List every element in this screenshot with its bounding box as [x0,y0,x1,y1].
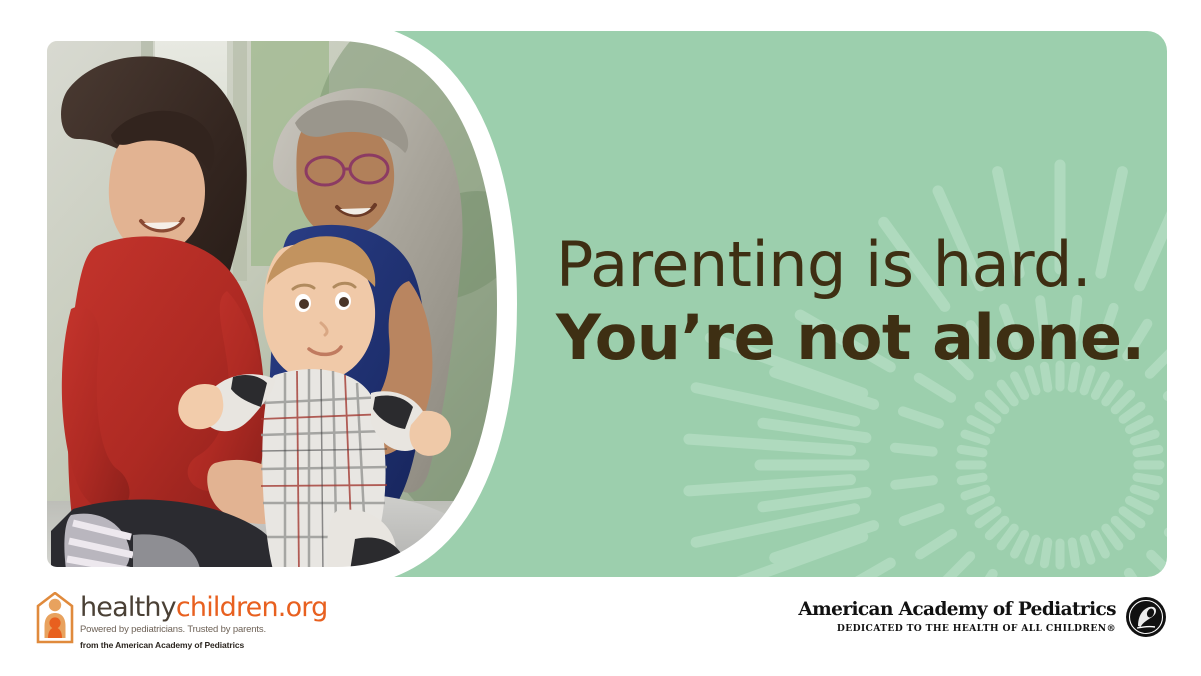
healthychildren-text: healthychildren.org Powered by pediatric… [80,592,327,650]
aap-text: American Academy of Pediatrics DEDICATED… [798,600,1116,634]
family-photo [37,31,517,577]
headline: Parenting is hard. You’re not alone. [556,234,1156,369]
healthychildren-wordmark: healthychildren.org [80,594,327,621]
healthychildren-tagline: Powered by pediatricians. Trusted by par… [80,624,327,635]
aap-tagline: DEDICATED TO THE HEALTH OF ALL CHILDREN® [798,623,1116,634]
wordmark-healthy: healthy [80,592,176,623]
healthychildren-subtagline: from the American Academy of Pediatrics [80,640,327,650]
healthychildren-logo[interactable]: healthychildren.org Powered by pediatric… [36,592,327,650]
headline-line-1: Parenting is hard. [556,234,1156,296]
promo-banner: Parenting is hard. You’re not alone. hea… [0,0,1201,676]
aap-logo[interactable]: American Academy of Pediatrics DEDICATED… [798,596,1167,638]
wordmark-children: children.org [176,592,328,623]
parent-and-child-icon [36,592,74,644]
headline-line-2: You’re not alone. [556,307,1156,369]
aap-seal-icon [1125,596,1167,638]
aap-name: American Academy of Pediatrics [798,600,1116,619]
family-photo-image [37,31,517,577]
